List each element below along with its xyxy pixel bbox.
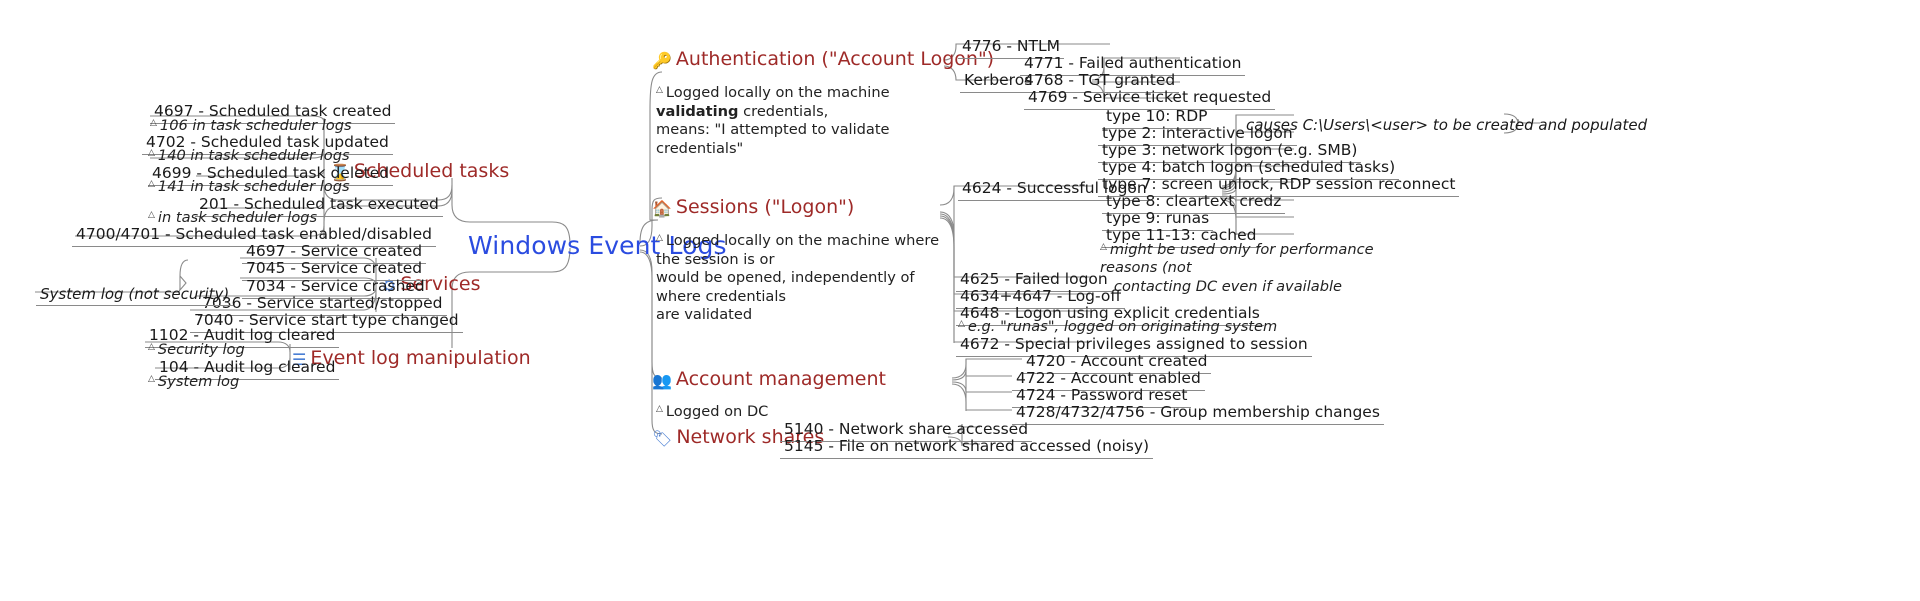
- note-triangle-icon: △: [150, 118, 157, 129]
- note-text: Logged locally on the machine where the …: [656, 232, 939, 323]
- note-triangle-icon: △: [1100, 242, 1107, 253]
- note-account-management: △Logged on DC: [656, 385, 768, 422]
- note-triangle-icon: △: [148, 179, 155, 190]
- note-triangle-icon: △: [958, 319, 965, 330]
- topic-label: Event log manipulation: [310, 347, 530, 369]
- note-cached-logon: △might be used only for performance reas…: [1100, 241, 1420, 296]
- node-5145-file-network-share-accessed[interactable]: 5145 - File on network shared accessed (…: [780, 436, 1153, 459]
- tag-icon: 🏷: [652, 429, 672, 448]
- note-system-log: △System log: [148, 373, 239, 391]
- note-triangle-icon: △: [656, 233, 663, 244]
- note-triangle-icon: △: [148, 148, 155, 159]
- note-triangle-icon: △: [656, 404, 663, 415]
- note-triangle-icon: △: [148, 210, 155, 221]
- note-triangle-icon: △: [656, 85, 663, 96]
- note-text: Logged locally on the machine validating…: [656, 84, 890, 156]
- note-text: might be used only for performance reaso…: [1100, 241, 1374, 295]
- note-rdp-creates-user-profile: causes C:\Users\<user> to be created and…: [1242, 115, 1651, 136]
- note-authentication: △Logged locally on the machine validatin…: [656, 66, 956, 158]
- note-sessions: △Logged locally on the machine where the…: [656, 214, 956, 324]
- note-triangle-icon: △: [148, 342, 155, 353]
- node-4728-4732-4756-group-membership[interactable]: 4728/4732/4756 - Group membership change…: [1012, 402, 1384, 425]
- node-system-log-not-security[interactable]: System log (not security): [36, 284, 233, 306]
- note-triangle-icon: △: [148, 374, 155, 385]
- mindmap-canvas: Windows Event Logs ⌛Scheduled tasks 4697…: [0, 0, 1920, 601]
